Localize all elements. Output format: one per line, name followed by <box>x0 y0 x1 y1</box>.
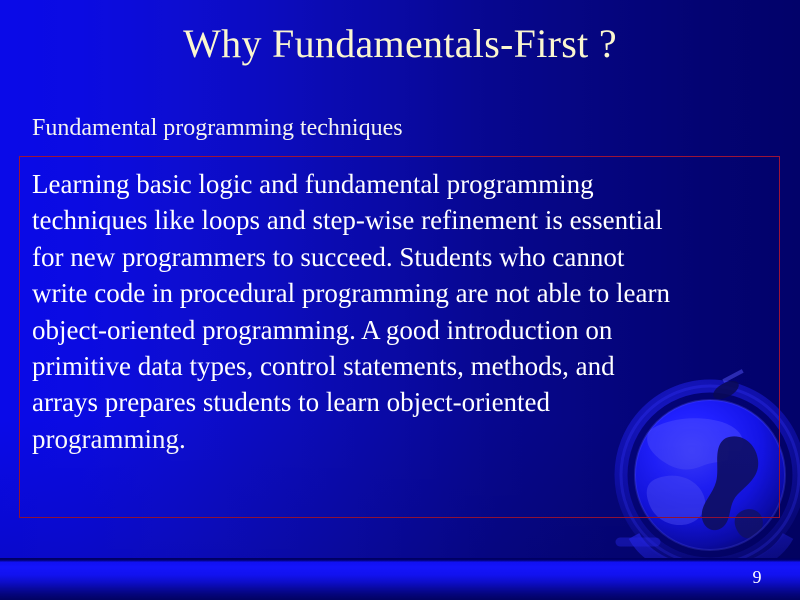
body-text: Learning basic logic and fundamental pro… <box>32 166 774 457</box>
body-line: primitive data types, control statements… <box>32 348 774 384</box>
body-line: for new programmers to succeed. Students… <box>32 239 774 275</box>
body-line: techniques like loops and step-wise refi… <box>32 202 774 238</box>
presentation-slide: Why Fundamentals-First ? Fundamental pro… <box>0 0 800 600</box>
body-line: Learning basic logic and fundamental pro… <box>32 166 774 202</box>
body-line: arrays prepares students to learn object… <box>32 384 774 420</box>
slide-subtitle: Fundamental programming techniques <box>32 113 403 143</box>
page-number: 9 <box>744 566 770 588</box>
body-line: programming. <box>32 421 774 457</box>
footer-band <box>0 558 800 600</box>
slide-title: Why Fundamentals-First ? <box>0 20 800 68</box>
body-line: write code in procedural programming are… <box>32 275 774 311</box>
body-text-box: Learning basic logic and fundamental pro… <box>19 156 780 518</box>
body-line: object-oriented programming. A good intr… <box>32 312 774 348</box>
